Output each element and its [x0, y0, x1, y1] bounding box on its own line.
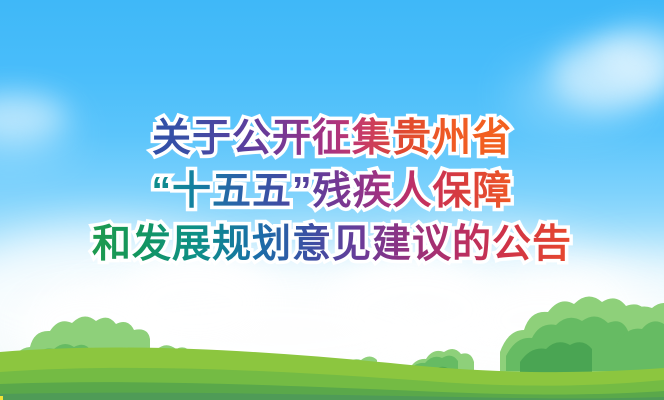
title-line-1-fill: 关于公开征集贵州省: [152, 117, 512, 160]
title-line-3: 和发展规划意见建议的公告 和发展规划意见建议的公告: [0, 218, 664, 271]
title-line-2: “十五五”残疾人保障 “十五五”残疾人保障: [0, 165, 664, 218]
title-line-3-fill: 和发展规划意见建议的公告: [92, 223, 572, 266]
announcement-banner: 关于公开征集贵州省 关于公开征集贵州省 “十五五”残疾人保障 “十五五”残疾人保…: [0, 0, 664, 400]
title-line-1: 关于公开征集贵州省 关于公开征集贵州省: [0, 112, 664, 165]
title-block: 关于公开征集贵州省 关于公开征集贵州省 “十五五”残疾人保障 “十五五”残疾人保…: [0, 112, 664, 271]
title-line-2-fill: “十五五”残疾人保障: [151, 170, 512, 213]
accent-marker: [0, 396, 3, 400]
